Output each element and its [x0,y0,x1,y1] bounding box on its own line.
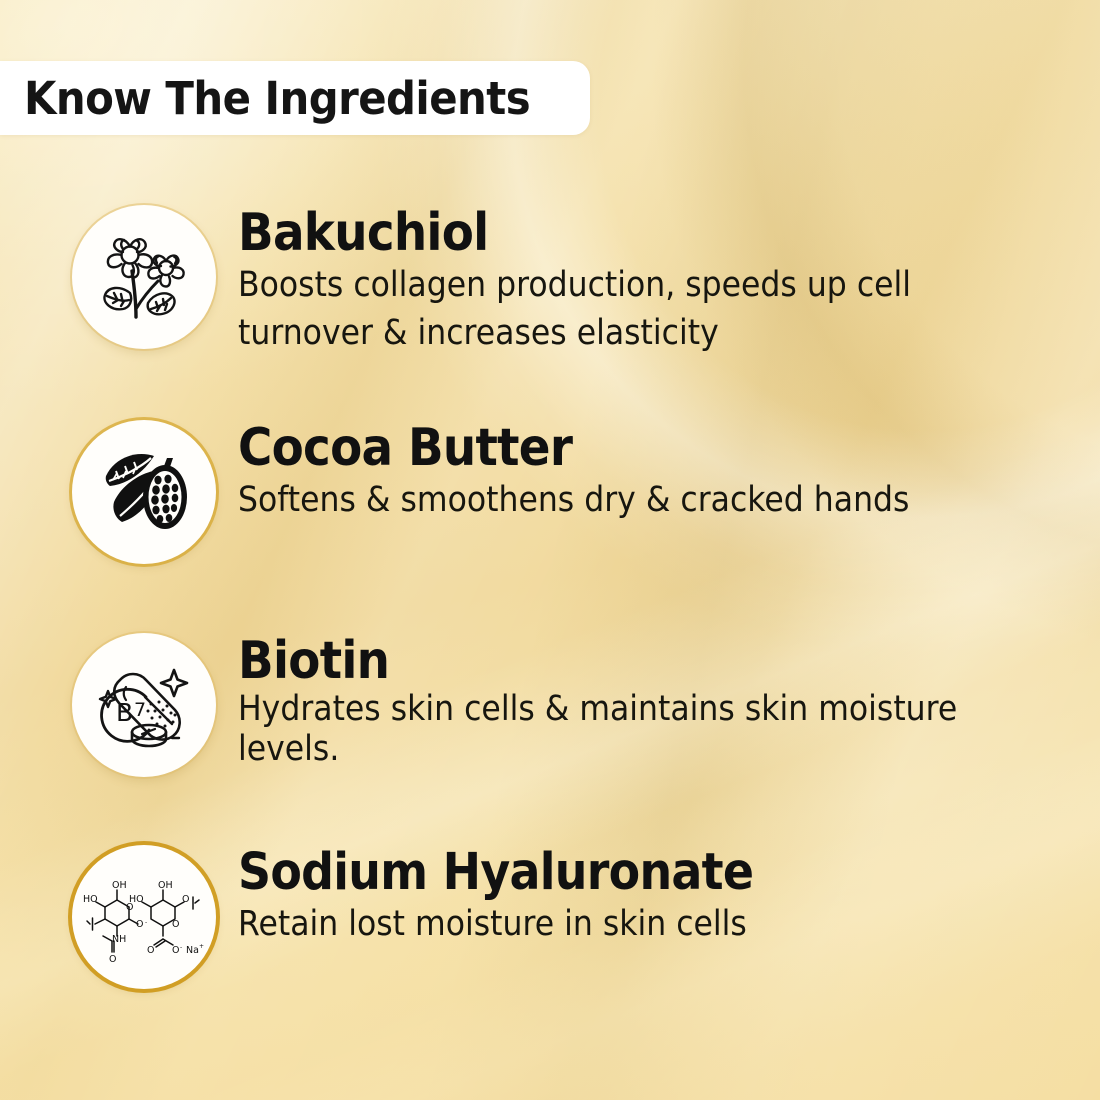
ingredient-icon-badge [72,205,216,349]
ingredient-icon-badge [72,420,216,564]
svg-text:O: O [147,945,154,956]
cocoa-pod-icon [92,440,196,544]
svg-text:B: B [116,698,133,727]
ingredient-icon-badge: B 7 [72,633,216,777]
flower-icon [90,223,198,331]
ingredient-text-block: Bakuchiol Boosts collagen production, sp… [238,205,1028,358]
ingredient-description: Retain lost moisture in skin cells [238,901,810,949]
ingredient-text-block: Cocoa Butter Softens & smoothens dry & c… [238,420,984,525]
svg-text:HO: HO [83,894,98,905]
svg-text:Na: Na [186,945,199,956]
ingredient-description: Boosts collagen production, speeds up ce… [238,262,1027,358]
svg-text:-: - [180,944,182,951]
ingredient-text-block: Biotin Hydrates skin cells & maintains s… [238,633,1028,769]
svg-text:O: O [109,954,116,965]
ingredient-name: Biotin [238,635,949,688]
svg-text:O: O [172,945,179,956]
svg-text:+: + [199,943,204,950]
svg-text:O: O [182,894,189,905]
svg-text:O: O [172,919,179,930]
svg-text:NH: NH [112,934,126,945]
ingredient-icon-badge: OH HO NH O O O - [72,845,216,989]
svg-text:7: 7 [134,699,146,721]
ingredient-name: Sodium Hyaluronate [238,847,753,899]
ingredient-name: Bakuchiol [238,207,949,260]
ingredient-description: Softens & smoothens dry & cracked hands [238,477,983,525]
ingredient-item-sodium-hyaluronate: OH HO NH O O O - [0,845,1060,989]
svg-text:OH: OH [112,880,127,891]
ingredient-list: Bakuchiol Boosts collagen production, sp… [0,0,1100,1100]
ingredients-infographic: Know The Ingredients [0,0,1100,1100]
svg-text:O: O [136,919,143,930]
ingredient-item-bakuchiol: Bakuchiol Boosts collagen production, sp… [0,205,1060,358]
ingredient-item-biotin: B 7 [0,633,1060,777]
ingredient-text-block: Sodium Hyaluronate Retain lost moisture … [238,845,811,949]
ingredient-name: Cocoa Butter [238,422,909,475]
ingredient-description: Hydrates skin cells & maintains skin moi… [238,690,1027,769]
molecule-structure-icon: OH HO NH O O O - [79,863,209,971]
vitamin-b7-capsule-icon: B 7 [89,650,199,760]
svg-text:-: - [145,919,147,926]
svg-text:HO: HO [129,894,144,905]
ingredient-item-cocoa-butter: Cocoa Butter Softens & smoothens dry & c… [0,420,1060,564]
svg-text:OH: OH [158,880,173,891]
